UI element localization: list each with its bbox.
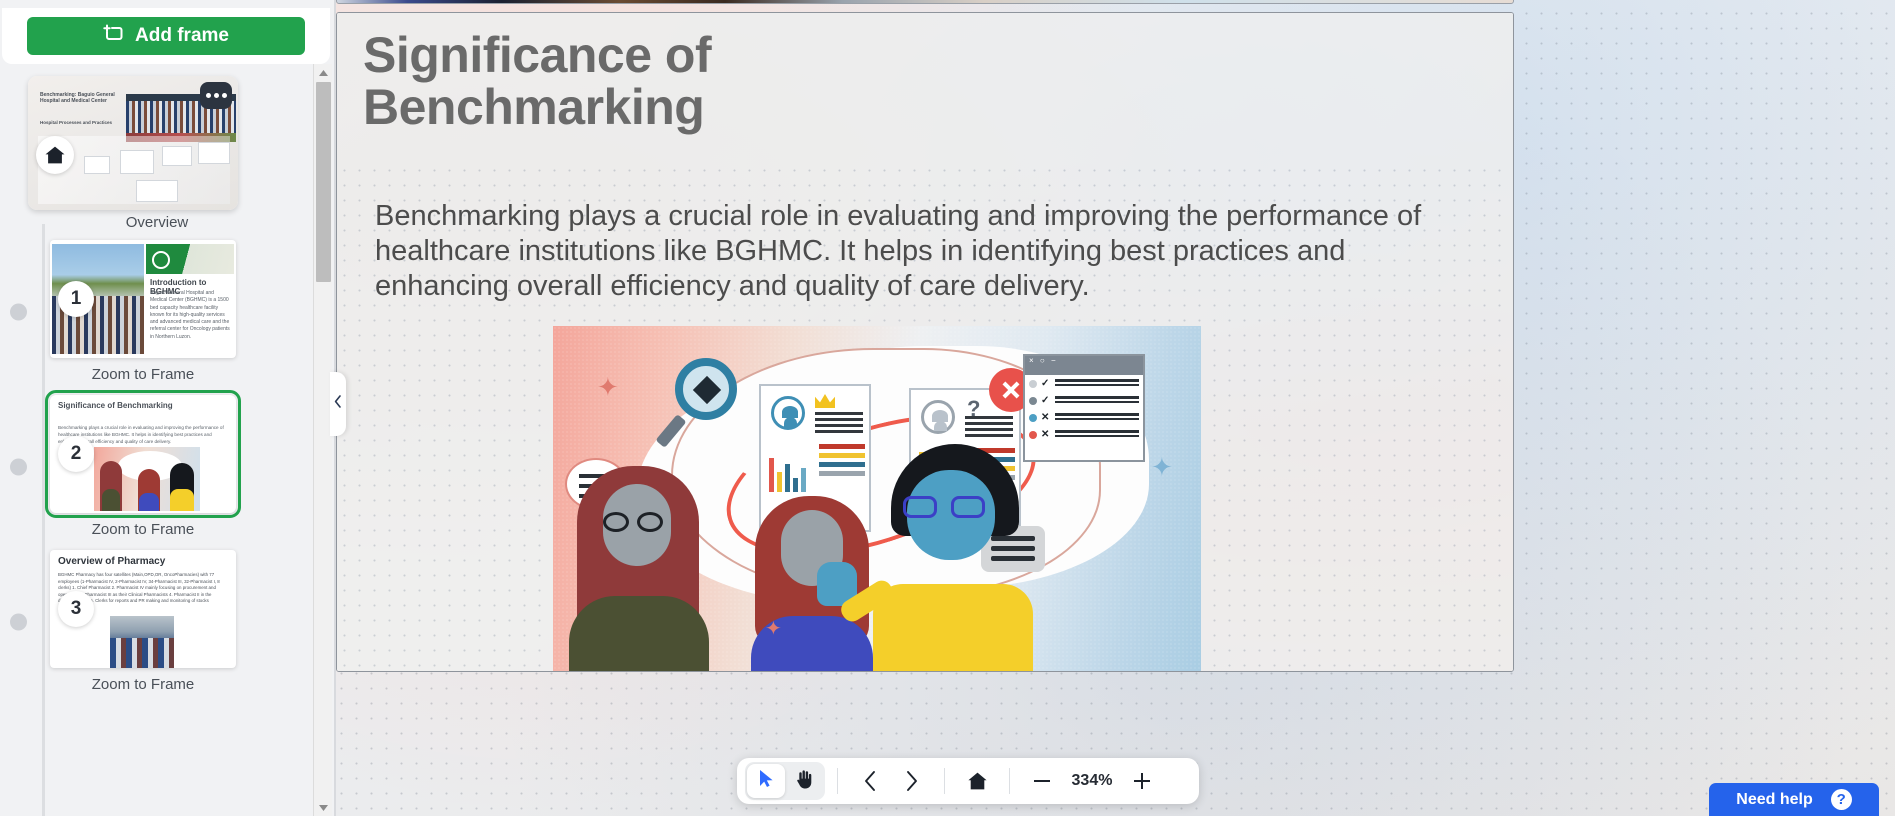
checklist-window: × ○ − ✓ ✓ ✕ ✕ bbox=[1023, 354, 1145, 462]
glasses-icon bbox=[903, 496, 989, 518]
frame-item-2[interactable]: Significance of Benchmarking Benchmarkin… bbox=[50, 395, 236, 538]
next-frame-button[interactable] bbox=[892, 764, 932, 798]
canvas-presentation-editor: Significance of Benchmarking Benchmarkin… bbox=[0, 0, 1895, 816]
magnifier-icon bbox=[675, 358, 737, 420]
frame-2-label[interactable]: Zoom to Frame bbox=[50, 521, 236, 538]
sidebar-scrollbar[interactable] bbox=[313, 64, 332, 816]
canvas-toolbar[interactable]: 334% bbox=[737, 758, 1199, 804]
frame-number-badge: 1 bbox=[58, 281, 94, 317]
frames-timeline-line bbox=[42, 224, 45, 816]
card-color-chips bbox=[819, 444, 865, 480]
crown-icon bbox=[815, 394, 835, 408]
frames-sidebar[interactable]: Add frame Benchmarking: Baguio General H… bbox=[0, 0, 334, 816]
select-tool-button[interactable] bbox=[747, 764, 785, 798]
frames-list[interactable]: Benchmarking: Baguio General Hospital an… bbox=[2, 64, 312, 816]
frame-2-title: Significance of Benchmarking bbox=[58, 401, 173, 411]
add-frame-label: Add frame bbox=[135, 25, 229, 47]
chevron-left-icon bbox=[334, 395, 342, 413]
toolbar-divider bbox=[1009, 768, 1010, 794]
frame-3-photo bbox=[110, 616, 174, 668]
benchmarking-teamwork-illustration[interactable]: ? × ○ − ✓ bbox=[553, 326, 1201, 672]
current-slide-frame[interactable]: Significance of Benchmarking Benchmarkin… bbox=[336, 12, 1514, 672]
home-button[interactable] bbox=[957, 764, 997, 798]
need-help-button[interactable]: Need help ? bbox=[1709, 783, 1879, 816]
scroll-down-arrow-icon[interactable] bbox=[314, 799, 333, 816]
avatar-icon bbox=[921, 400, 955, 434]
frame-item-1[interactable]: Introduction to BGHMC Baguio General Hos… bbox=[50, 240, 236, 383]
tool-mode-group[interactable] bbox=[745, 762, 825, 800]
checklist-row: ✕ bbox=[1025, 426, 1143, 443]
frame-thumbnail-3[interactable]: Overview of Pharmacy BGHMC Pharmacy has … bbox=[50, 550, 236, 668]
toolbar-divider bbox=[837, 768, 838, 794]
frame-2-illustration bbox=[94, 447, 200, 511]
checklist-row: ✕ bbox=[1025, 409, 1143, 426]
previous-frame-partial[interactable] bbox=[336, 0, 1514, 4]
frame-1-header-banner bbox=[146, 244, 234, 274]
scroll-up-arrow-icon[interactable] bbox=[314, 64, 333, 81]
frame-3-label[interactable]: Zoom to Frame bbox=[50, 676, 236, 693]
timeline-dot bbox=[10, 303, 27, 320]
toolbar-divider bbox=[944, 768, 945, 794]
add-frame-button[interactable]: Add frame bbox=[27, 17, 305, 55]
frame-number-badge: 3 bbox=[58, 591, 94, 627]
sparkle-decoration: ✦ bbox=[765, 616, 782, 641]
avatar-icon bbox=[771, 396, 805, 430]
overview-caption: Overview bbox=[2, 214, 312, 231]
overview-thumb-subtitle: Hospital Processes and Practices bbox=[40, 120, 120, 125]
timeline-dot bbox=[10, 613, 27, 630]
zoom-level-value[interactable]: 334% bbox=[1064, 772, 1120, 790]
frame-thumbnail-1[interactable]: Introduction to BGHMC Baguio General Hos… bbox=[50, 240, 236, 358]
hand-icon bbox=[795, 769, 814, 794]
sparkle-decoration: ✦ bbox=[1151, 452, 1173, 483]
person-three-illustration bbox=[873, 444, 1033, 672]
frame-thumbnail-2[interactable]: Significance of Benchmarking Benchmarkin… bbox=[50, 395, 236, 513]
overview-thumbnail[interactable]: Benchmarking: Baguio General Hospital an… bbox=[28, 76, 238, 210]
frame-3-title: Overview of Pharmacy bbox=[58, 556, 165, 567]
timeline-dot bbox=[10, 458, 27, 475]
need-help-label: Need help bbox=[1736, 791, 1812, 809]
zoom-out-button[interactable] bbox=[1022, 764, 1062, 798]
sparkle-decoration: ✦ bbox=[597, 372, 619, 403]
overview-thumb-title: Benchmarking: Baguio General Hospital an… bbox=[40, 92, 118, 105]
frame-1-label[interactable]: Zoom to Frame bbox=[50, 366, 236, 383]
previous-frame-button[interactable] bbox=[850, 764, 890, 798]
frame-number-badge: 2 bbox=[58, 436, 94, 472]
sidebar-scrollbar-thumb[interactable] bbox=[316, 82, 331, 282]
card-text-lines bbox=[815, 412, 863, 436]
window-titlebar: × ○ − bbox=[1025, 356, 1143, 375]
collapse-sidebar-handle[interactable] bbox=[330, 372, 346, 436]
checklist-row: ✓ bbox=[1025, 392, 1143, 409]
checklist-row: ✓ bbox=[1025, 375, 1143, 392]
pan-tool-button[interactable] bbox=[785, 764, 823, 798]
card-text-lines bbox=[965, 416, 1013, 440]
bar-chart-icon bbox=[769, 448, 813, 492]
person-one-illustration bbox=[569, 466, 709, 672]
sidebar-header: Add frame bbox=[2, 8, 330, 64]
slide-title: Significance of Benchmarking bbox=[363, 29, 1063, 133]
slide-body-text: Benchmarking plays a crucial role in eva… bbox=[375, 199, 1475, 303]
more-options-icon[interactable] bbox=[200, 82, 232, 109]
home-icon bbox=[36, 136, 74, 174]
frame-1-body: Baguio General Hospital and Medical Cent… bbox=[150, 290, 232, 341]
frame-item-3[interactable]: Overview of Pharmacy BGHMC Pharmacy has … bbox=[50, 550, 236, 693]
zoom-in-button[interactable] bbox=[1122, 764, 1162, 798]
glasses-icon bbox=[603, 512, 669, 532]
add-frame-icon bbox=[103, 24, 124, 49]
question-mark-icon: ? bbox=[1831, 789, 1852, 810]
cursor-arrow-icon bbox=[758, 769, 775, 793]
